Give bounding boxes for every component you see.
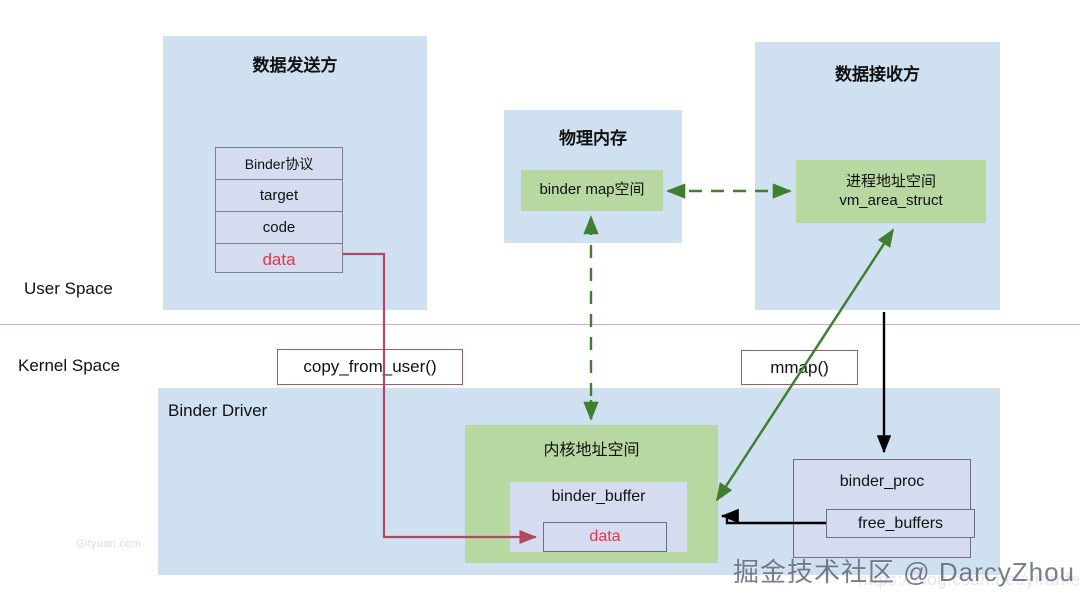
copy-from-user-arrow [343,254,536,537]
free-buffers-to-kernel-space-arrow [722,516,826,523]
diagram-canvas: 数据发送方 Binder协议 target code data 物理内存 bin… [0,0,1080,600]
site-watermark: Gityuan.com [76,538,141,550]
arrow-layer [0,0,1080,600]
mmap-mapping-arrow [717,230,893,500]
community-watermark: 掘金技术社区 @ DarcyZhou [733,552,1075,589]
